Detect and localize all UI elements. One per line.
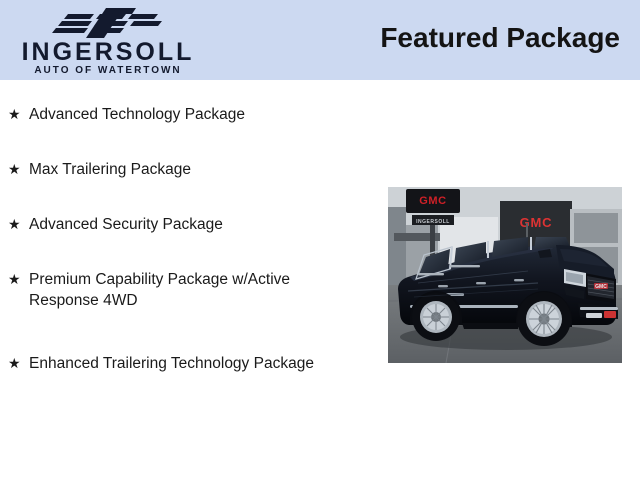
dealer-wordmark: INGERSOLL	[8, 40, 208, 65]
list-item: ★ Advanced Security Package	[8, 214, 359, 235]
star-bullet-icon: ★	[8, 104, 21, 125]
package-label: Advanced Security Package	[29, 214, 359, 235]
package-label: Advanced Technology Package	[29, 104, 359, 125]
featured-package-list: ★ Advanced Technology Package ★ Max Trai…	[8, 104, 368, 408]
star-bullet-icon: ★	[8, 214, 21, 235]
dealer-tagline: AUTO OF WATERTOWN	[8, 65, 208, 76]
svg-text:GMC: GMC	[595, 284, 607, 290]
list-item: ★ Premium Capability Package w/Active Re…	[8, 269, 359, 311]
list-item: ★ Max Trailering Package	[8, 159, 359, 180]
list-item: ★ Enhanced Trailering Technology Package	[8, 353, 359, 374]
svg-text:INGERSOLL: INGERSOLL	[416, 219, 450, 225]
package-label: Premium Capability Package w/Active Resp…	[29, 269, 359, 311]
package-label: Enhanced Trailering Technology Package	[29, 353, 359, 374]
svg-text:GMC: GMC	[419, 195, 446, 207]
page-title: Featured Package	[380, 22, 620, 54]
dealer-logo: INGERSOLL AUTO OF WATERTOWN	[8, 2, 208, 80]
svg-text:GMC: GMC	[520, 215, 553, 230]
star-bullet-icon: ★	[8, 353, 21, 374]
star-bullet-icon: ★	[8, 269, 21, 290]
header-band: INGERSOLL AUTO OF WATERTOWN Featured Pac…	[0, 0, 640, 80]
package-label: Max Trailering Package	[29, 159, 359, 180]
star-bullet-icon: ★	[8, 159, 21, 180]
ingersoll-winged-flag-emblem	[50, 5, 170, 41]
vehicle-photo: GMC INGERSOLL GMC	[388, 187, 622, 363]
list-item: ★ Advanced Technology Package	[8, 104, 359, 125]
